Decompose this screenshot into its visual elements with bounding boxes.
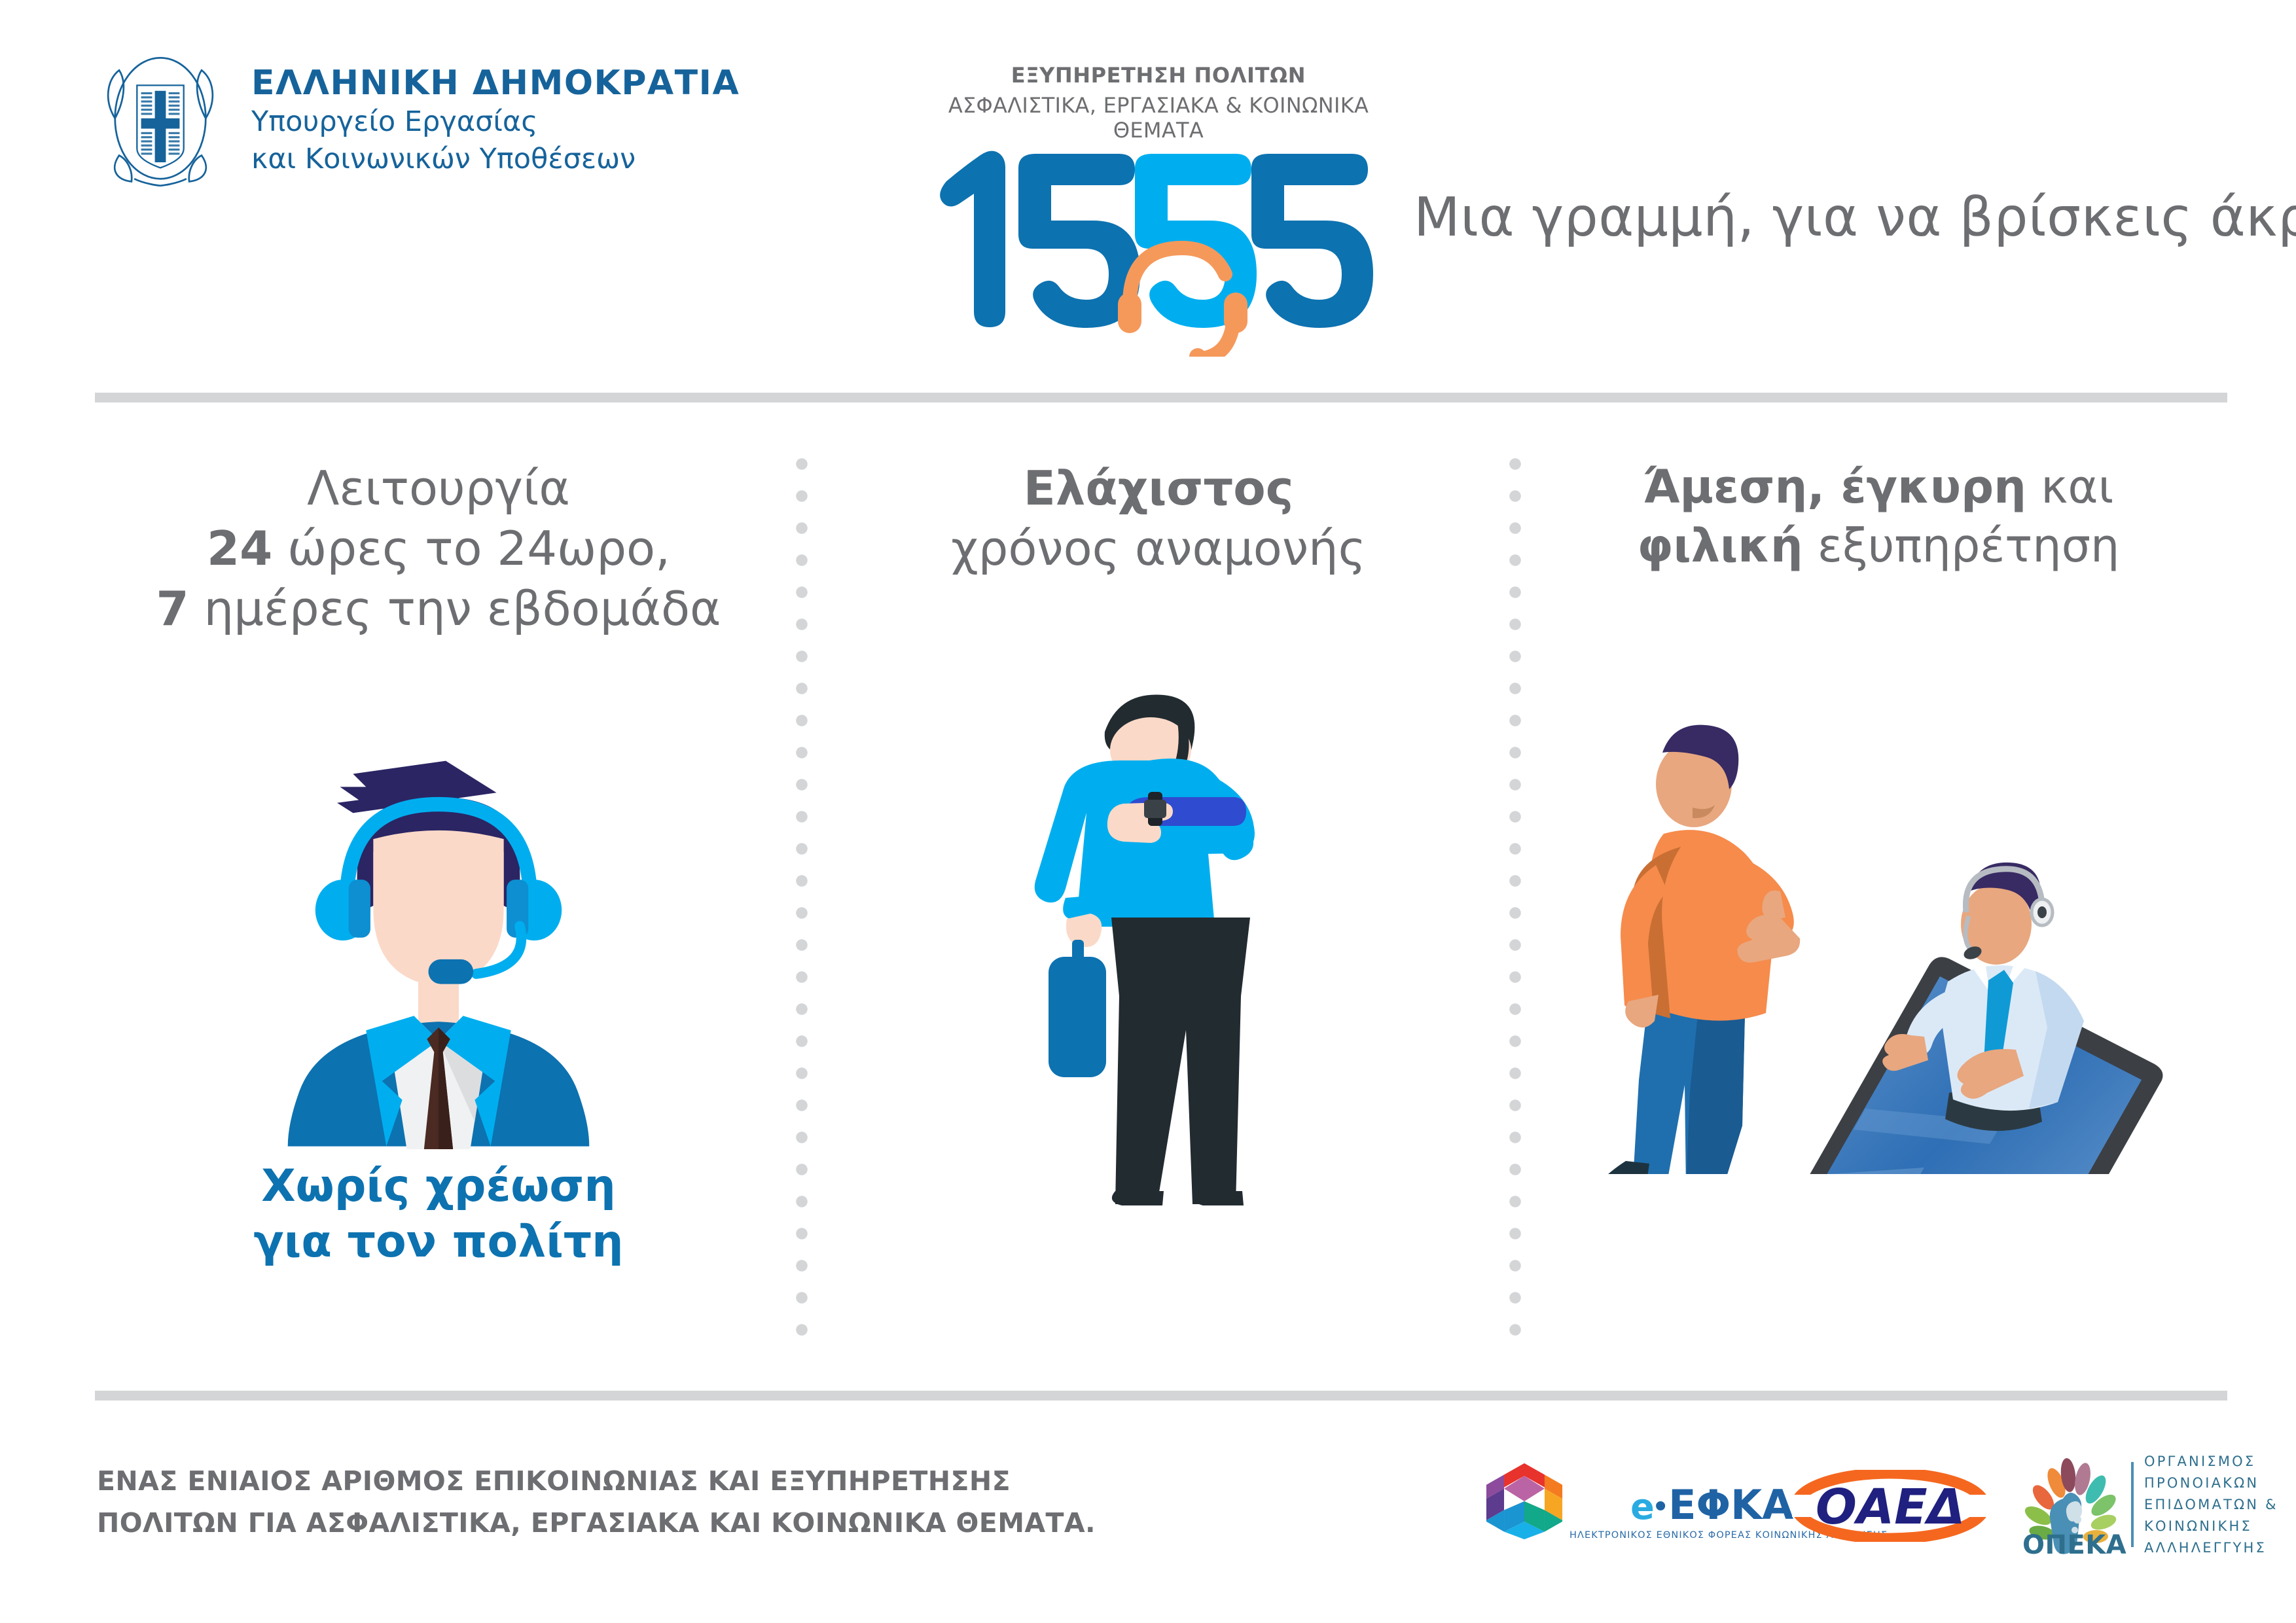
column3-heading-bold-2: φιλική	[1638, 519, 1803, 573]
logo-opeka: ΟΠΕΚΑ ΟΡΓΑΝΙΣΜΟΣ ΠΡΟΝΟΙΑΚΩΝ ΕΠΙΔΟΜΑΤΩΝ &…	[2022, 1449, 2278, 1560]
opeka-line-4: ΚΟΙΝΩΝΙΚΗΣ	[2144, 1518, 2278, 1534]
column3-heading: Άμεση, έγκυρη και φιλική εξυπηρέτηση	[1532, 458, 2225, 575]
tagline: Μια γραμμή, για να βρίσκεις άκρη	[1414, 187, 2238, 249]
brand-subtitle-block: ΕΞΥΠΗΡΕΤΗΣΗ ΠΟΛΙΤΩΝ ΑΣΦΑΛΙΣΤΙΚΑ, ΕΡΓΑΣΙΑ…	[903, 63, 1414, 143]
svg-text:e: e	[1630, 1486, 1655, 1527]
column-service-quality: Άμεση, έγκυρη και φιλική εξυπηρέτηση	[1532, 458, 2225, 1174]
logo-oaed: ΟΑΕΔ	[1792, 1470, 1988, 1542]
svg-text:ΕΦΚΑ: ΕΦΚΑ	[1668, 1481, 1793, 1529]
opeka-mark-icon: ΟΠΕΚΑ	[2022, 1449, 2121, 1560]
brand-line-2: ΑΣΦΑΛΙΣΤΙΚΑ, ΕΡΓΑΣΙΑΚΑ & ΚΟΙΝΩΝΙΚΑ ΘΕΜΑΤ…	[903, 93, 1414, 143]
column3-heading-line1: Άμεση, έγκυρη και	[1532, 458, 2225, 517]
header: ΕΛΛΗΝΙΚΗ ΔΗΜΟΚΡΑΤΙΑ Υπουργείο Εργασίας κ…	[0, 0, 2296, 393]
opeka-line-1: ΟΡΓΑΝΙΣΜΟΣ	[2144, 1454, 2278, 1469]
government-logo-text: ΕΛΛΗΝΙΚΗ ΔΗΜΟΚΡΑΤΙΑ Υπουργείο Εργασίας κ…	[251, 64, 740, 177]
citizen-and-agent-on-phone-illustration	[1532, 716, 2225, 1174]
footer-line-1: ΕΝΑΣ ΕΝΙΑΙΟΣ ΑΡΙΘΜΟΣ ΕΠΙΚΟΙΝΩΝΙΑΣ ΚΑΙ ΕΞ…	[97, 1461, 1210, 1503]
column1-caption-line1: Χωρίς χρέωση	[98, 1158, 779, 1214]
call-center-operator-illustration	[98, 743, 779, 1149]
column2-heading: Ελάχιστος χρόνος αναμονής	[818, 458, 1499, 579]
efka-hexagon-icon	[1486, 1462, 1563, 1541]
opeka-line-5: ΑΛΛΗΛΕΓΓΥΗΣ	[2144, 1540, 2278, 1556]
opeka-divider	[2131, 1462, 2134, 1547]
column3-heading-rest-2: εξυπηρέτηση	[1803, 519, 2120, 573]
column1-caption: Χωρίς χρέωση για τον πολίτη	[98, 1158, 779, 1270]
column1-hours-number: 24	[207, 521, 272, 576]
opeka-subtitle-lines: ΟΡΓΑΝΙΣΜΟΣ ΠΡΟΝΟΙΑΚΩΝ ΕΠΙΔΟΜΑΤΩΝ & ΚΟΙΝΩ…	[2144, 1454, 2278, 1556]
column1-heading-line2: 24 ώρες το 24ωρο,	[98, 518, 779, 579]
man-checking-watch-illustration	[818, 664, 1499, 1207]
column2-heading-line1: Ελάχιστος	[818, 458, 1499, 518]
divider-bottom	[95, 1391, 2227, 1400]
column-operation-hours: Λειτουργία 24 ώρες το 24ωρο, 7 ημέρες τη…	[98, 458, 779, 1270]
column1-days-rest: ημέρες την εβδομάδα	[189, 581, 721, 636]
column1-heading: Λειτουργία 24 ώρες το 24ωρο, 7 ημέρες τη…	[98, 458, 779, 639]
brand-line-1: ΕΞΥΠΗΡΕΤΗΣΗ ΠΟΛΙΤΩΝ	[903, 63, 1414, 88]
column1-hours-rest: ώρες το 24ωρο,	[272, 521, 670, 576]
opeka-wordmark: ΟΠΕΚΑ	[2022, 1530, 2126, 1560]
column1-caption-line2: για τον πολίτη	[98, 1214, 779, 1270]
opeka-line-2: ΠΡΟΝΟΙΑΚΩΝ	[2144, 1475, 2278, 1491]
logo-1555	[936, 141, 1381, 357]
dotted-divider-1	[796, 458, 808, 1342]
opeka-line-3: ΕΠΙΔΟΜΑΤΩΝ &	[2144, 1497, 2278, 1512]
gov-subtitle-line1: Υπουργείο Εργασίας	[251, 103, 740, 141]
oaed-wordmark: ΟΑΕΔ	[1816, 1479, 1965, 1535]
column3-heading-line2: φιλική εξυπηρέτηση	[1532, 517, 2225, 576]
greek-republic-emblem-icon	[92, 52, 229, 190]
column1-heading-line1: Λειτουργία	[98, 458, 779, 518]
dotted-divider-2	[1509, 458, 1521, 1342]
footer: ΕΝΑΣ ΕΝΙΑΙΟΣ ΑΡΙΘΜΟΣ ΕΠΙΚΟΙΝΩΝΙΑΣ ΚΑΙ ΕΞ…	[0, 1433, 2296, 1623]
column2-heading-line2: χρόνος αναμονής	[818, 518, 1499, 579]
column1-heading-line3: 7 ημέρες την εβδομάδα	[98, 579, 779, 639]
divider-top	[95, 393, 2227, 402]
footer-line-2: ΠΟΛΙΤΩΝ ΓΙΑ ΑΣΦΑΛΙΣΤΙΚΑ, ΕΡΓΑΣΙΑΚΑ ΚΑΙ Κ…	[97, 1503, 1210, 1544]
column-waiting-time: Ελάχιστος χρόνος αναμονής	[818, 458, 1499, 1207]
gov-subtitle-line2: και Κοινωνικών Υποθέσεων	[251, 141, 740, 178]
footer-description: ΕΝΑΣ ΕΝΙΑΙΟΣ ΑΡΙΘΜΟΣ ΕΠΙΚΟΙΝΩΝΙΑΣ ΚΑΙ ΕΞ…	[97, 1461, 1210, 1544]
footer-logos: e ΕΦΚΑ ΗΛΕΚΤΡΟΝΙΚΟΣ ΕΘΝΙΚΟΣ ΦΟΡΕΑΣ ΚΟΙΝΩ…	[1486, 1440, 2258, 1577]
gov-title: ΕΛΛΗΝΙΚΗ ΔΗΜΟΚΡΑΤΙΑ	[251, 64, 740, 103]
column1-days-number: 7	[156, 581, 189, 636]
column2-heading-bold: Ελάχιστος	[1024, 461, 1294, 516]
government-logo: ΕΛΛΗΝΙΚΗ ΔΗΜΟΚΡΑΤΙΑ Υπουργείο Εργασίας κ…	[92, 52, 740, 190]
column3-heading-bold-1: Άμεση, έγκυρη	[1643, 460, 2026, 514]
column3-heading-rest-1: και	[2026, 460, 2113, 514]
